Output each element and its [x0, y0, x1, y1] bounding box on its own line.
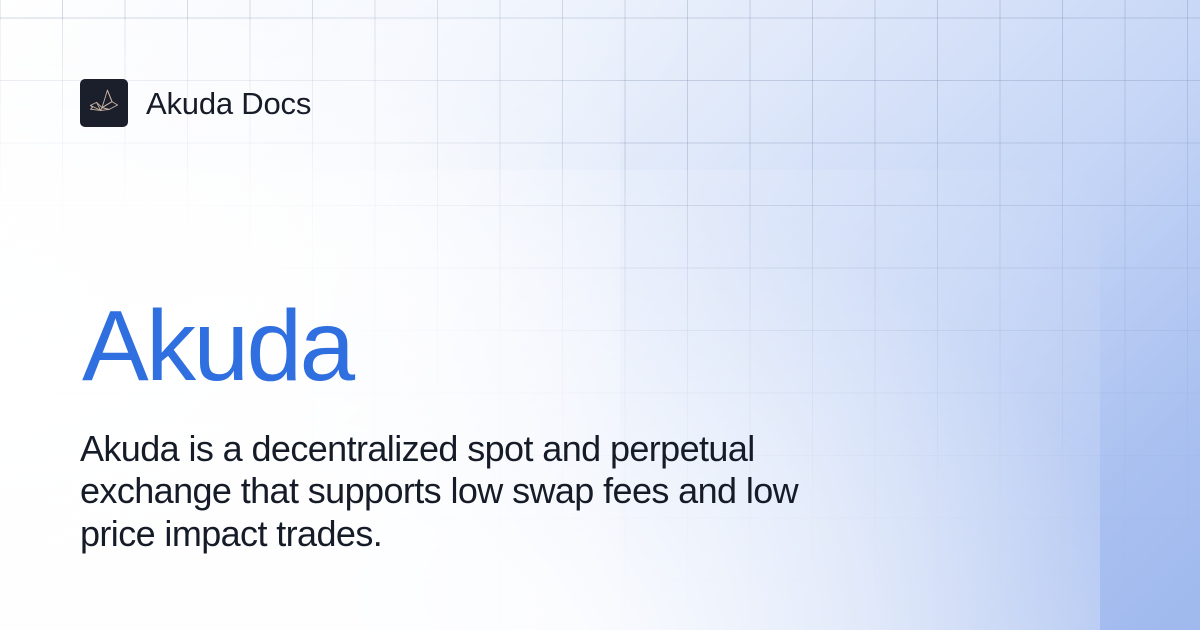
og-preview-card: Akuda Docs Akuda Akuda is a decentralize… — [0, 0, 1200, 630]
brand-header[interactable]: Akuda Docs — [80, 79, 311, 127]
page-title: Akuda — [82, 296, 353, 396]
page-description: Akuda is a decentralized spot and perpet… — [80, 428, 870, 555]
origami-bird-icon — [80, 79, 128, 127]
card-content: Akuda Docs Akuda Akuda is a decentralize… — [0, 0, 1200, 630]
brand-name: Akuda Docs — [146, 88, 311, 119]
